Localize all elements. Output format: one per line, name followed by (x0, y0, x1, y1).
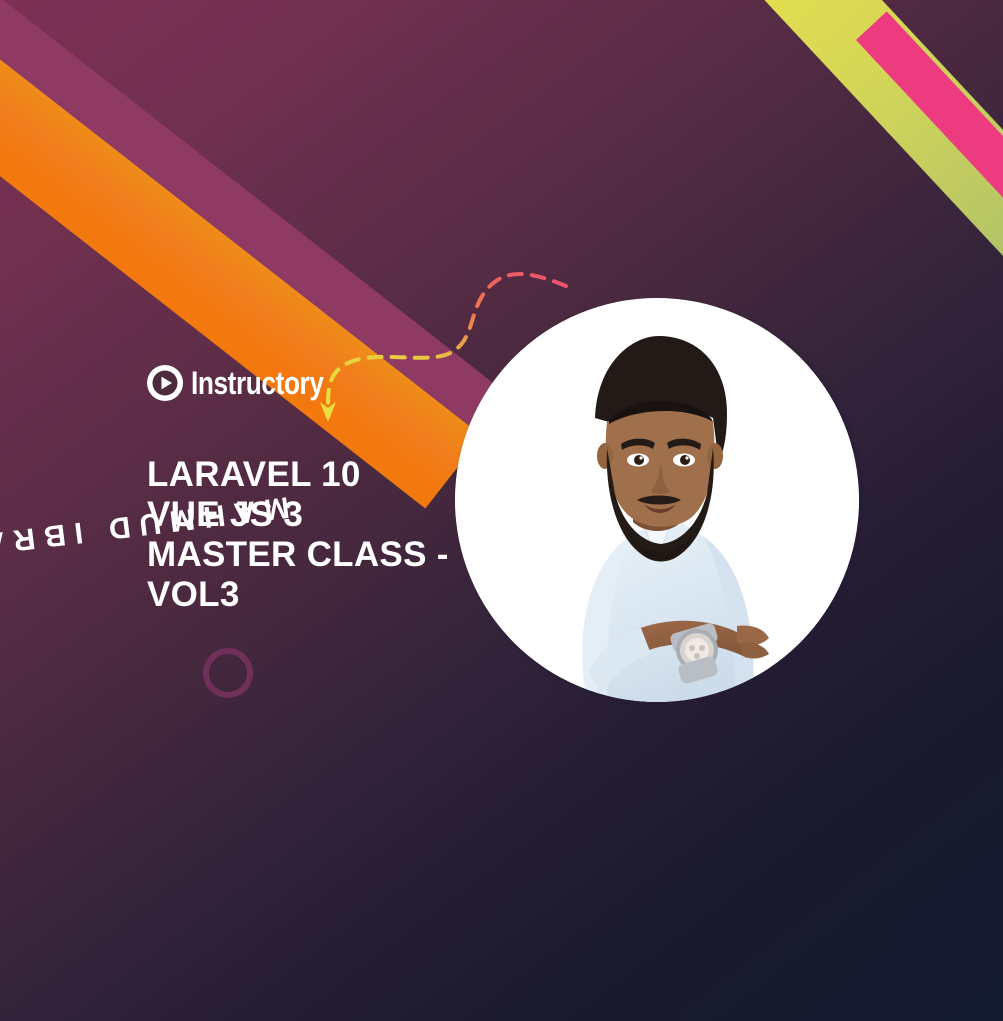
brand-logo[interactable]: Instructory (146, 364, 353, 402)
brand-name: Instructory (191, 367, 324, 399)
play-circle-icon (146, 364, 184, 402)
course-title-line-2: VUE JS 3 (147, 495, 547, 535)
ring-outline-small-icon (196, 296, 229, 329)
course-thumbnail-banner: MAHMUD IBRAHIM (0, 0, 1003, 1021)
course-title: LARAVEL 10 VUE JS 3 MASTER CLASS - VOL3 (147, 455, 547, 615)
course-title-line-3: MASTER CLASS - (147, 535, 547, 575)
course-title-line-4: VOL3 (147, 575, 547, 615)
course-title-line-1: LARAVEL 10 (147, 455, 547, 495)
ring-outline-large-icon (203, 648, 253, 698)
